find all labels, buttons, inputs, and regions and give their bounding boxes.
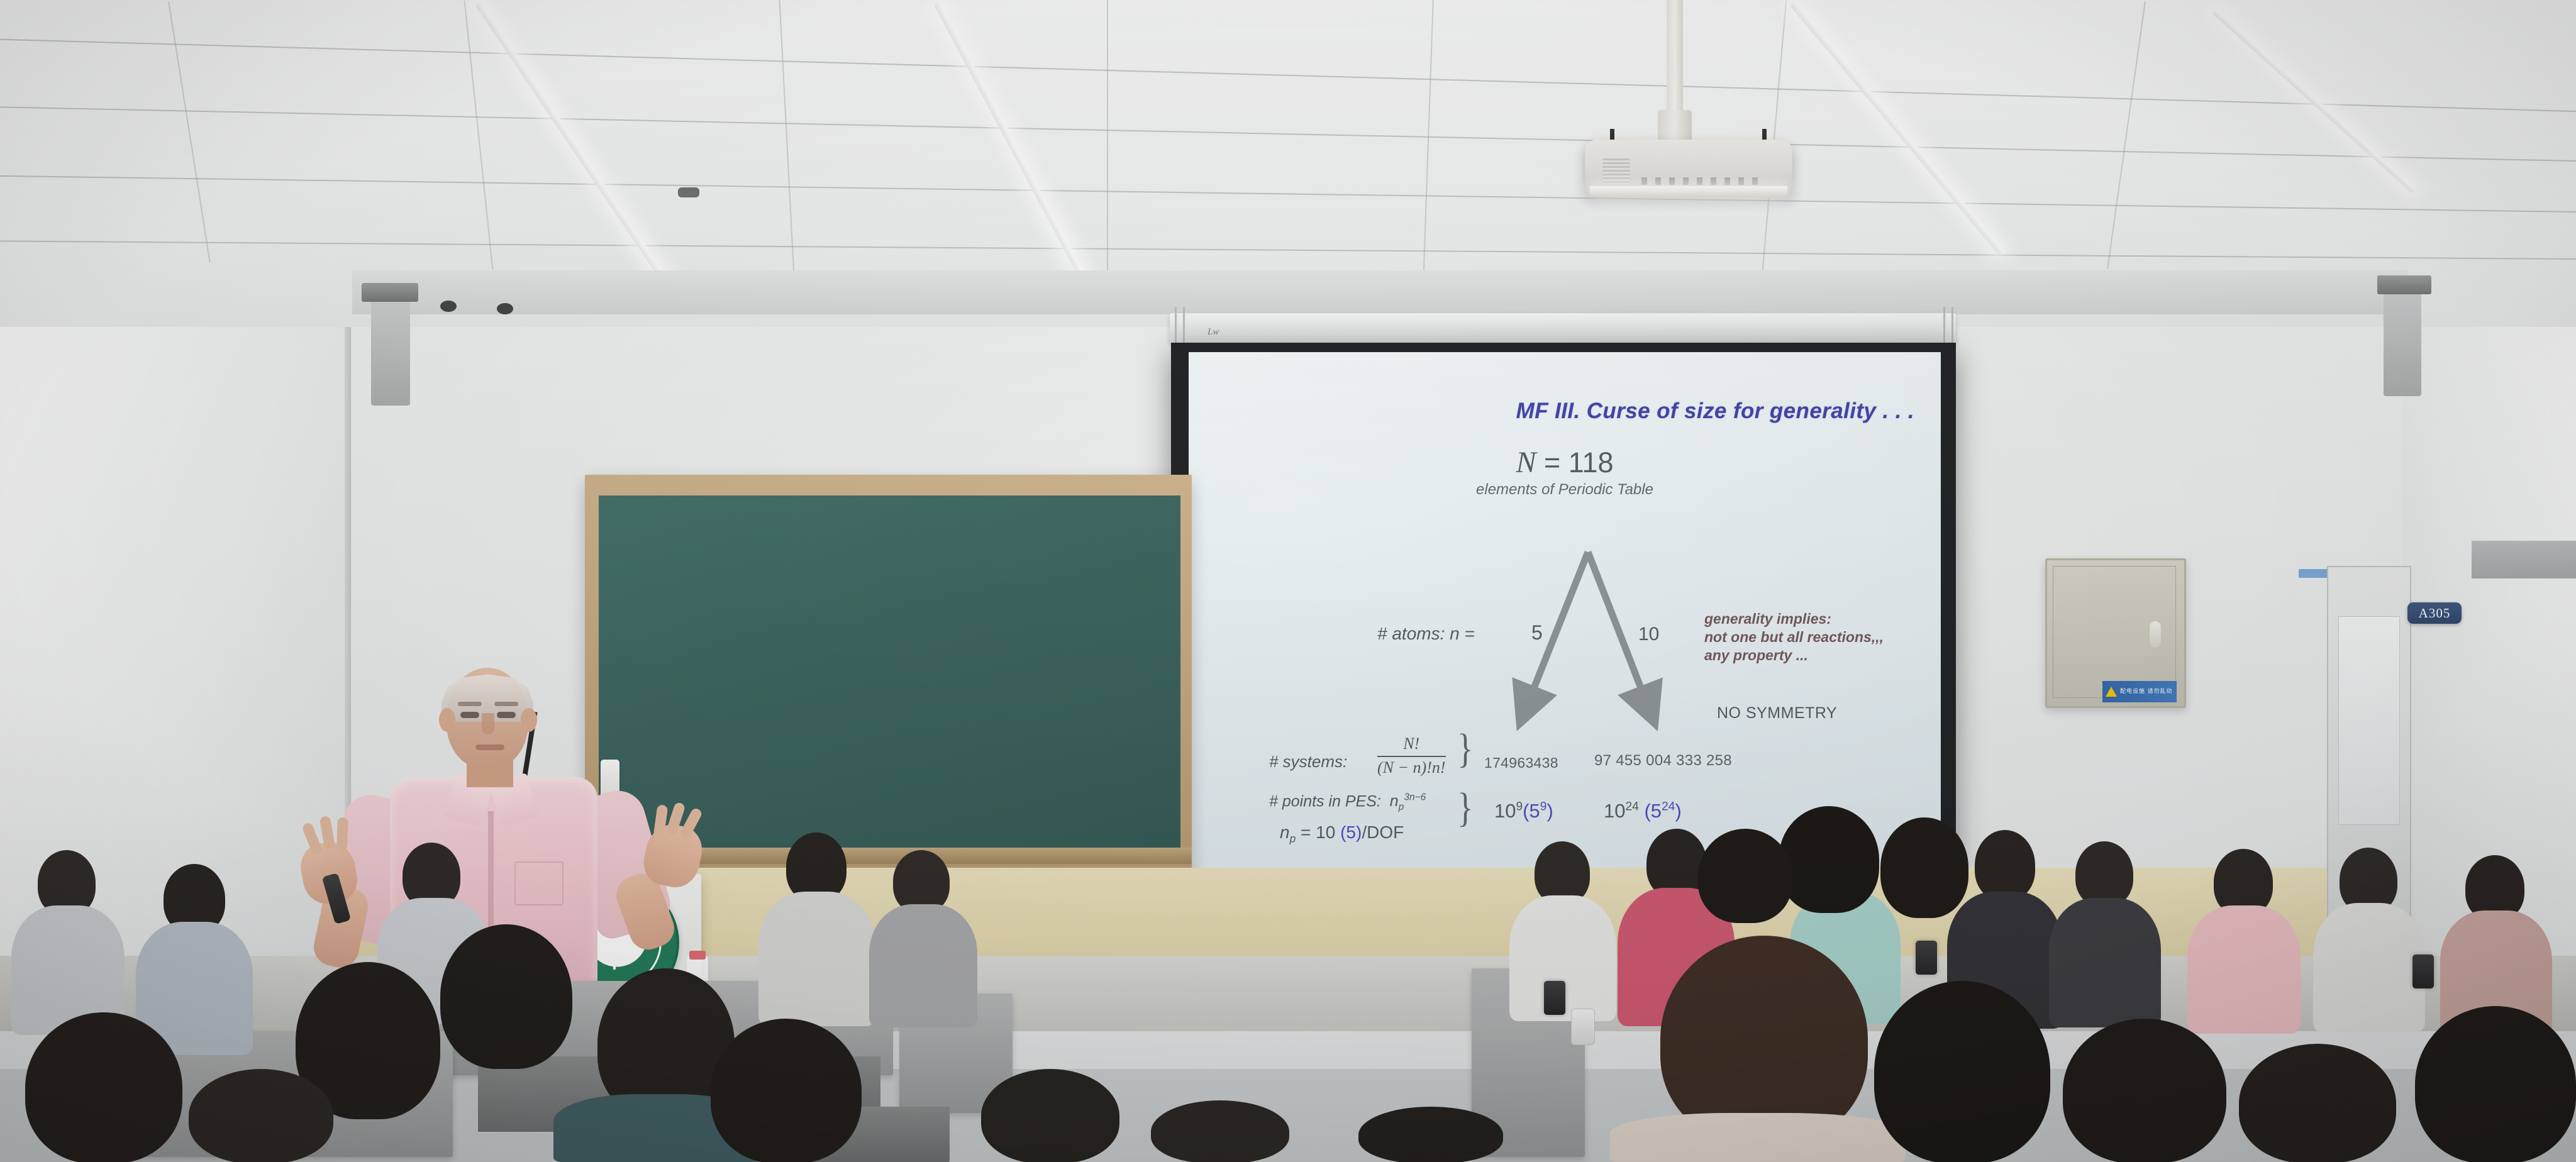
- student-head: [893, 850, 950, 913]
- student-phone[interactable]: [2412, 954, 2434, 988]
- student-phone[interactable]: [1544, 981, 1565, 1015]
- student-head: [1535, 841, 1590, 904]
- student-head: [25, 1012, 182, 1162]
- audience: [0, 0, 2576, 1162]
- student-head: [1358, 1107, 1503, 1162]
- student-head: [1975, 830, 2035, 900]
- student-body: [2187, 905, 2301, 1034]
- student-head: [711, 1019, 862, 1162]
- student-body: [2313, 903, 2425, 1032]
- student-head: [2075, 841, 2133, 907]
- student-head: [2415, 1006, 2576, 1162]
- handheld-fan[interactable]: [1571, 1009, 1595, 1045]
- student-head: [1151, 1100, 1289, 1162]
- student-head: [1779, 806, 1879, 913]
- student-phone[interactable]: [1916, 941, 1937, 975]
- student-body: [869, 904, 977, 1027]
- student-body: [2049, 898, 2161, 1027]
- student-head: [981, 1069, 1119, 1162]
- student-body: [1610, 1113, 1906, 1162]
- student-head: [440, 924, 572, 1069]
- student-head: [2239, 1044, 2396, 1162]
- lecture-hall-photo: Lw MF III. Curse of size for generality …: [0, 0, 2576, 1162]
- student-head: [1880, 817, 1968, 918]
- student-head: [1660, 936, 1868, 1143]
- student-head: [189, 1069, 333, 1162]
- student-head: [1874, 981, 2050, 1162]
- student-head: [2063, 1019, 2226, 1162]
- student-body: [758, 892, 875, 1026]
- student-head: [1698, 829, 1792, 923]
